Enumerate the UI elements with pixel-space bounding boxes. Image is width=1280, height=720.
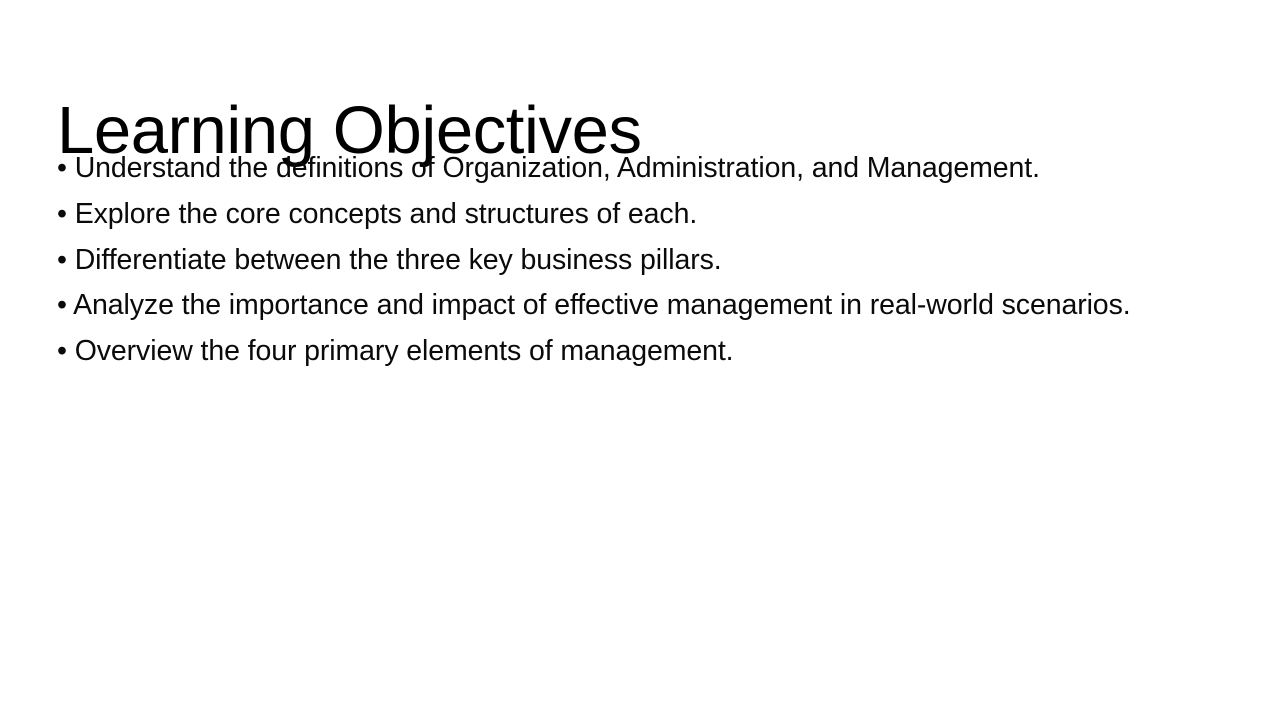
list-item: • Differentiate between the three key bu… — [57, 238, 1217, 284]
list-item-label: Analyze the importance and impact of eff… — [73, 289, 1130, 321]
bullet-icon: • — [57, 244, 75, 276]
list-item: • Explore the core concepts and structur… — [57, 192, 1217, 238]
list-item-label: Differentiate between the three key busi… — [75, 244, 722, 276]
list-item: • Analyze the importance and impact of e… — [57, 283, 1205, 329]
list-item-label: Overview the four primary elements of ma… — [75, 335, 734, 367]
objectives-list: • Understand the definitions of Organiza… — [57, 146, 1217, 375]
list-item-label: Explore the core concepts and structures… — [75, 198, 697, 230]
slide-canvas: Learning Objectives • Understand the def… — [0, 0, 1280, 720]
bullet-icon: • — [57, 152, 75, 184]
list-item-label: Understand the definitions of Organizati… — [75, 152, 1040, 184]
bullet-icon: • — [57, 335, 75, 367]
bullet-icon: • — [57, 198, 75, 230]
list-item: • Understand the definitions of Organiza… — [57, 146, 1047, 192]
bullet-icon: • — [57, 289, 73, 321]
list-item: • Overview the four primary elements of … — [57, 329, 1217, 375]
